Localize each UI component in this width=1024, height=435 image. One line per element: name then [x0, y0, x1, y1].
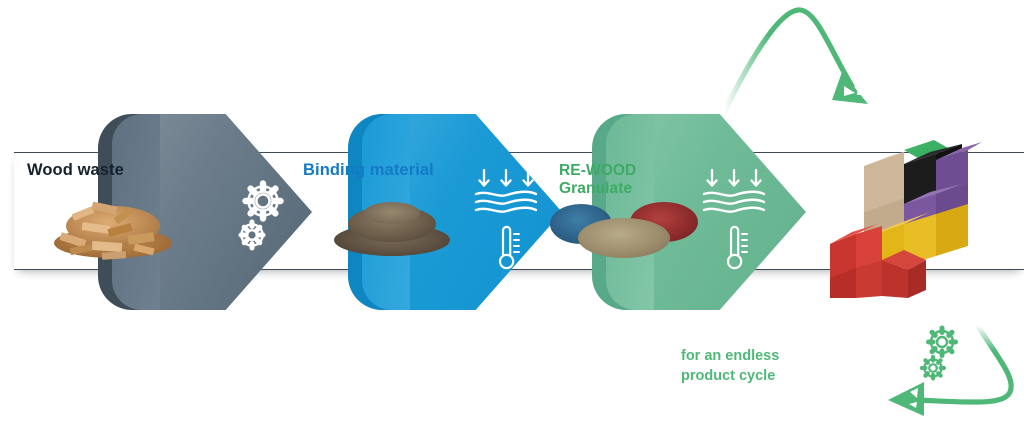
gears-icon [920, 326, 976, 388]
press-down-arrows-icon [702, 168, 766, 216]
press-down-arrows-icon [474, 168, 538, 216]
stage-label-rewood-line1: RE-WOOD [559, 162, 636, 180]
binding-granules-pile-photo [330, 198, 454, 260]
thermometer-icon [720, 224, 750, 272]
wooden-building-blocks-cube-photo [830, 138, 1010, 298]
process-flow-diagram: Wood waste Binding material RE-WOOD Gran… [0, 0, 1024, 435]
cycle-caption-line1: for an endless [681, 347, 779, 367]
cycle-caption-line2: product cycle [681, 367, 779, 387]
stage-label-rewood-granulate: RE-WOOD Granulate [559, 162, 636, 198]
curved-arrow-down-right-icon [718, 0, 898, 115]
stage-label-rewood-line2: Granulate [559, 180, 636, 198]
coloured-granulate-piles-photo [548, 196, 702, 260]
wood-chips-pile-photo [48, 196, 178, 262]
cycle-caption: for an endless product cycle [681, 347, 779, 386]
thermometer-icon [492, 224, 522, 272]
gears-icon [236, 176, 302, 256]
stage-label-wood-waste: Wood waste [27, 161, 124, 180]
stage-label-binding-material: Binding material [303, 161, 434, 180]
